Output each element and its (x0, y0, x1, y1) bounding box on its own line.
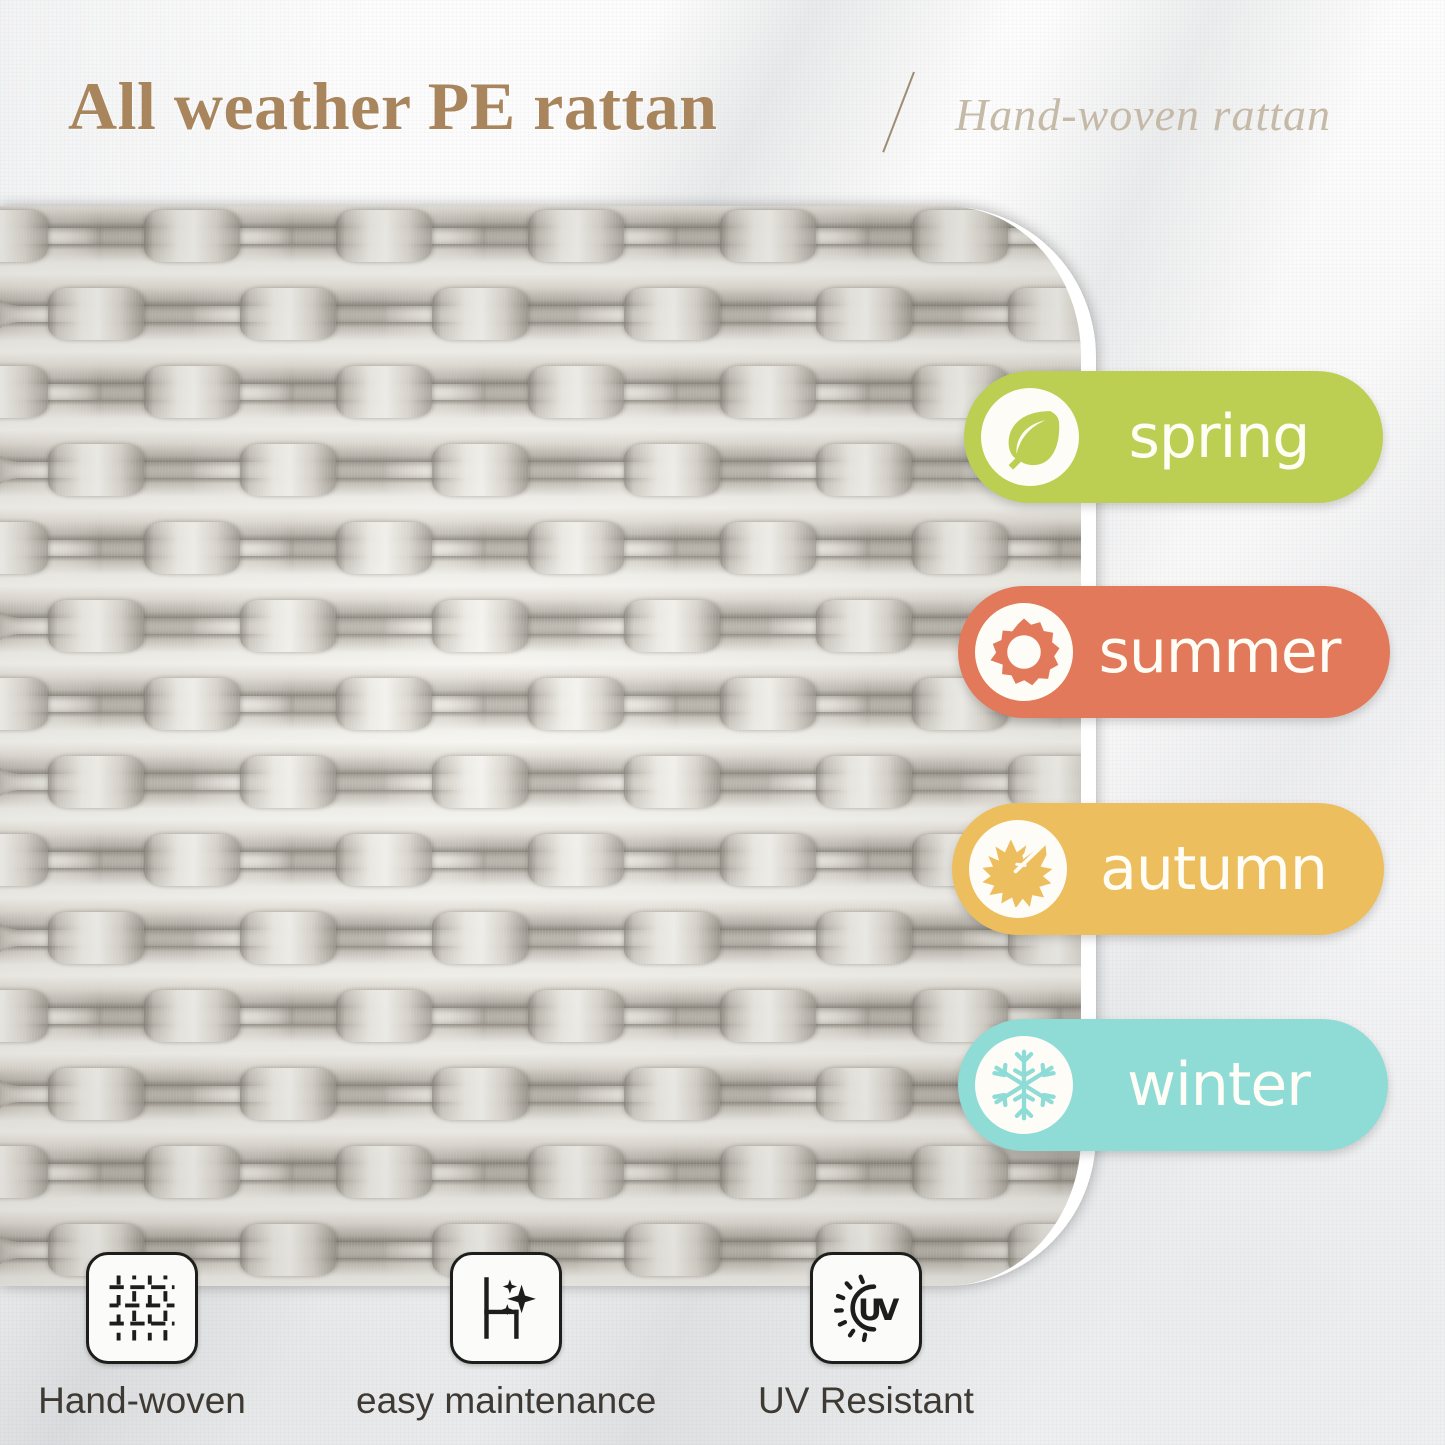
feature-easy-maintenance: easy maintenance (356, 1252, 656, 1422)
season-label: winter (1073, 1055, 1388, 1115)
season-label: autumn (1067, 839, 1384, 899)
sun-icon (975, 603, 1073, 701)
feature-label: UV Resistant (716, 1380, 1016, 1422)
leaf-icon (981, 388, 1079, 486)
snowflake-icon (975, 1036, 1073, 1134)
season-label: summer (1073, 622, 1390, 682)
season-badge-spring[interactable]: spring (964, 371, 1383, 503)
feature-label: easy maintenance (356, 1380, 656, 1422)
uv-sun-icon: U V (810, 1252, 922, 1364)
season-badge-summer[interactable]: summer (958, 586, 1390, 718)
infographic-root: All weather PE rattan Hand-woven rattan … (0, 0, 1445, 1445)
season-badge-autumn[interactable]: autumn (952, 803, 1384, 935)
maple-leaf-icon (969, 820, 1067, 918)
weave-pattern-icon (86, 1252, 198, 1364)
svg-text:V: V (877, 1293, 900, 1327)
sparkle-h-icon (450, 1252, 562, 1364)
feature-hand-woven: Hand-woven (0, 1252, 292, 1422)
season-badge-list: spring summer autumn (0, 0, 1445, 1445)
feature-label: Hand-woven (0, 1380, 292, 1422)
feature-uv-resistant: U V UV Resistant (716, 1252, 1016, 1422)
season-label: spring (1079, 407, 1383, 467)
feature-list: Hand-woven easy maintenance (0, 1252, 1060, 1445)
season-badge-winter[interactable]: winter (958, 1019, 1388, 1151)
